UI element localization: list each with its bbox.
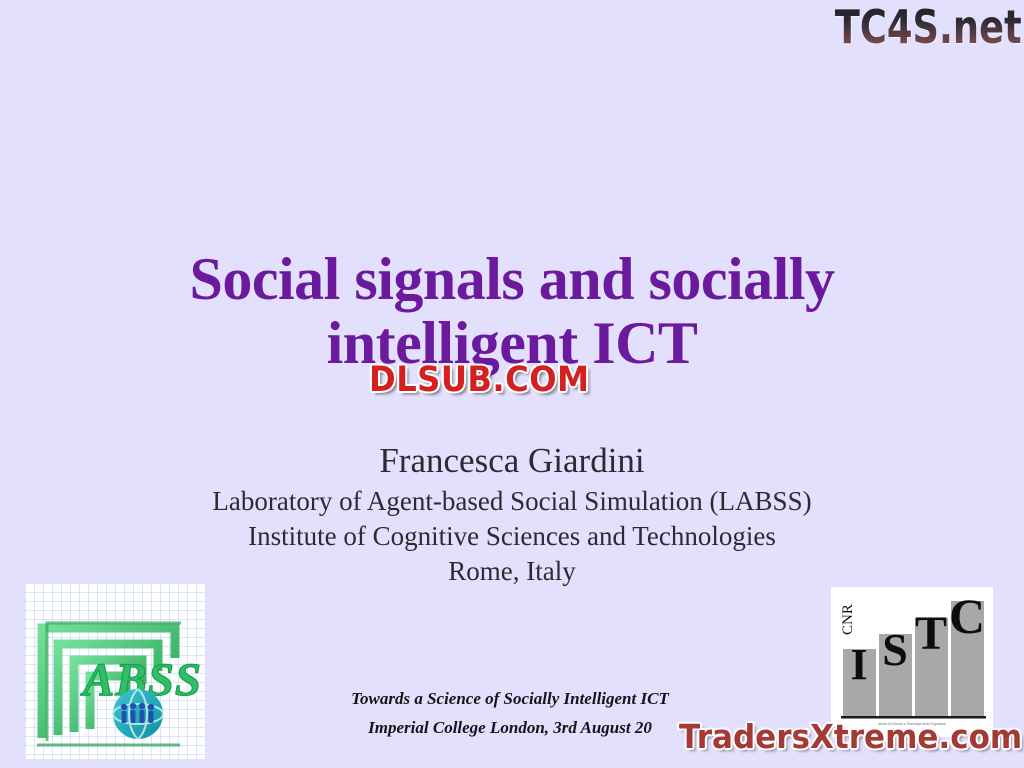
istc-letter-t: T bbox=[915, 607, 947, 660]
affiliation-line-institute: Institute of Cognitive Sciences and Tech… bbox=[112, 519, 912, 554]
istc-letter-c: C bbox=[949, 588, 985, 644]
globe-icon bbox=[113, 689, 163, 739]
istc-caption: Istituto di Scienze e Tecnologie della C… bbox=[878, 722, 946, 726]
presentation-slide: Social signals and socially intelligent … bbox=[0, 0, 1024, 768]
author-affiliation-block: Francesca Giardini Laboratory of Agent-b… bbox=[112, 440, 912, 590]
istc-logo-graphic: CNR I S T C Istituto di Scienze e Tecnol… bbox=[831, 587, 993, 737]
author-name: Francesca Giardini bbox=[112, 440, 912, 484]
cnr-label: CNR bbox=[840, 604, 856, 635]
slide-title-line-2: intelligent ICT bbox=[60, 312, 964, 376]
slide-title-line-1: Social signals and socially bbox=[60, 248, 964, 312]
event-venue-date: Imperial College London, 3rd August 20 bbox=[180, 713, 840, 742]
istc-baseline bbox=[841, 716, 986, 719]
istc-cnr-logo: CNR I S T C Istituto di Scienze e Tecnol… bbox=[831, 587, 993, 737]
labss-logo-graphic: ABSS bbox=[25, 583, 205, 759]
watermark-tc4s: TC4S.net bbox=[835, 0, 1022, 54]
istc-letter-s: S bbox=[882, 624, 908, 675]
labss-logo: ABSS bbox=[25, 583, 205, 759]
istc-letter-i: I bbox=[850, 640, 867, 689]
slide-title: Social signals and socially intelligent … bbox=[60, 248, 964, 375]
affiliation-line-city: Rome, Italy bbox=[112, 554, 912, 589]
affiliation-line-laboratory: Laboratory of Agent-based Social Simulat… bbox=[112, 484, 912, 519]
event-footer: Towards a Science of Socially Intelligen… bbox=[180, 684, 840, 742]
event-name: Towards a Science of Socially Intelligen… bbox=[180, 684, 840, 713]
